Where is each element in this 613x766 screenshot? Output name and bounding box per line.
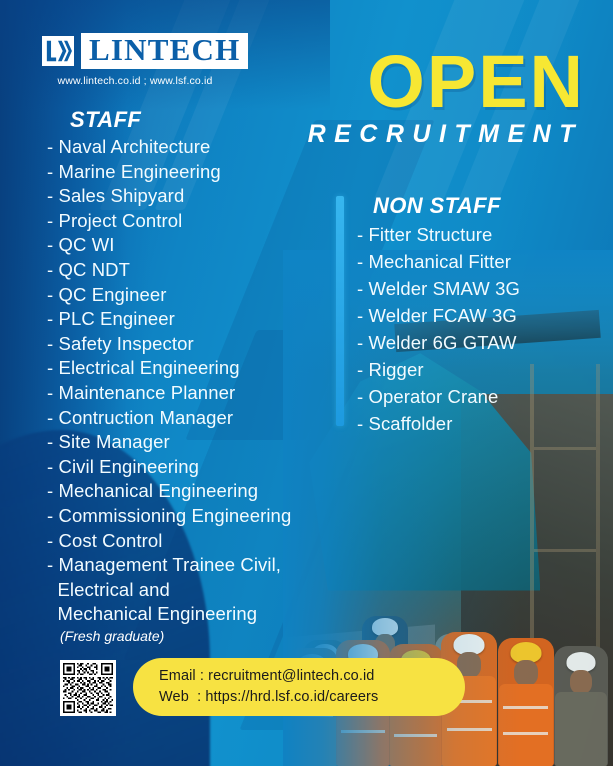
contact-email[interactable]: Email : recruitment@lintech.co.id xyxy=(159,666,465,687)
list-item: - Civil Engineering xyxy=(47,455,347,480)
contact-bar: Email : recruitment@lintech.co.id Web : … xyxy=(133,658,465,716)
list-item: - QC WI xyxy=(47,233,347,258)
list-item: - Safety Inspector xyxy=(47,332,347,357)
list-item: - Welder FCAW 3G xyxy=(357,302,607,329)
list-item: - Marine Engineering xyxy=(47,160,347,185)
headline-recruitment: RECRUITMENT xyxy=(308,120,585,149)
list-item: - Rigger xyxy=(357,356,607,383)
list-item: - Welder 6G GTAW xyxy=(357,329,607,356)
list-item: - Welder SMAW 3G xyxy=(357,275,607,302)
list-item: - Naval Architecture xyxy=(47,135,347,160)
list-item: - PLC Engineer xyxy=(47,307,347,332)
headline-open: OPEN xyxy=(308,48,585,116)
list-item: - QC Engineer xyxy=(47,283,347,308)
list-item: - Sales Shipyard xyxy=(47,184,347,209)
list-item: - Electrical Engineering xyxy=(47,356,347,381)
brand-urls: www.lintech.co.id ; www.lsf.co.id xyxy=(42,75,228,87)
list-item: - Site Manager xyxy=(47,430,347,455)
list-item: - Project Control xyxy=(47,209,347,234)
list-item: - Management Trainee Civil, Electrical a… xyxy=(47,553,347,627)
brand-name: LINTECH xyxy=(81,33,248,69)
list-item: - Scaffolder xyxy=(357,410,607,437)
headline: OPEN RECRUITMENT xyxy=(308,48,585,149)
list-item: - Maintenance Planner xyxy=(47,381,347,406)
qr-code-icon[interactable] xyxy=(60,660,116,716)
list-item: - Mechanical Engineering xyxy=(47,479,347,504)
list-item: - Fitter Structure xyxy=(357,221,607,248)
nonstaff-heading: NON STAFF xyxy=(373,193,607,219)
recruitment-poster: LINTECH www.lintech.co.id ; www.lsf.co.i… xyxy=(0,0,613,766)
nonstaff-column: NON STAFF - Fitter Structure - Mechanica… xyxy=(357,193,607,437)
list-item: - QC NDT xyxy=(47,258,347,283)
nonstaff-position-list: - Fitter Structure - Mechanical Fitter -… xyxy=(357,221,607,437)
staff-position-list: - Naval Architecture - Marine Engineerin… xyxy=(47,135,347,627)
fresh-graduate-note: (Fresh graduate) xyxy=(60,628,347,644)
staff-column: STAFF - Naval Architecture - Marine Engi… xyxy=(47,107,347,644)
brand-logo: LINTECH www.lintech.co.id ; www.lsf.co.i… xyxy=(42,33,248,87)
staff-heading: STAFF xyxy=(70,107,347,133)
lintech-chevron-logo-icon xyxy=(42,36,74,66)
list-item: - Contruction Manager xyxy=(47,406,347,431)
list-item: - Commissioning Engineering xyxy=(47,504,347,529)
list-item: - Operator Crane xyxy=(357,383,607,410)
list-item: - Mechanical Fitter xyxy=(357,248,607,275)
contact-web[interactable]: Web : https://hrd.lsf.co.id/careers xyxy=(159,687,465,708)
list-item: - Cost Control xyxy=(47,529,347,554)
